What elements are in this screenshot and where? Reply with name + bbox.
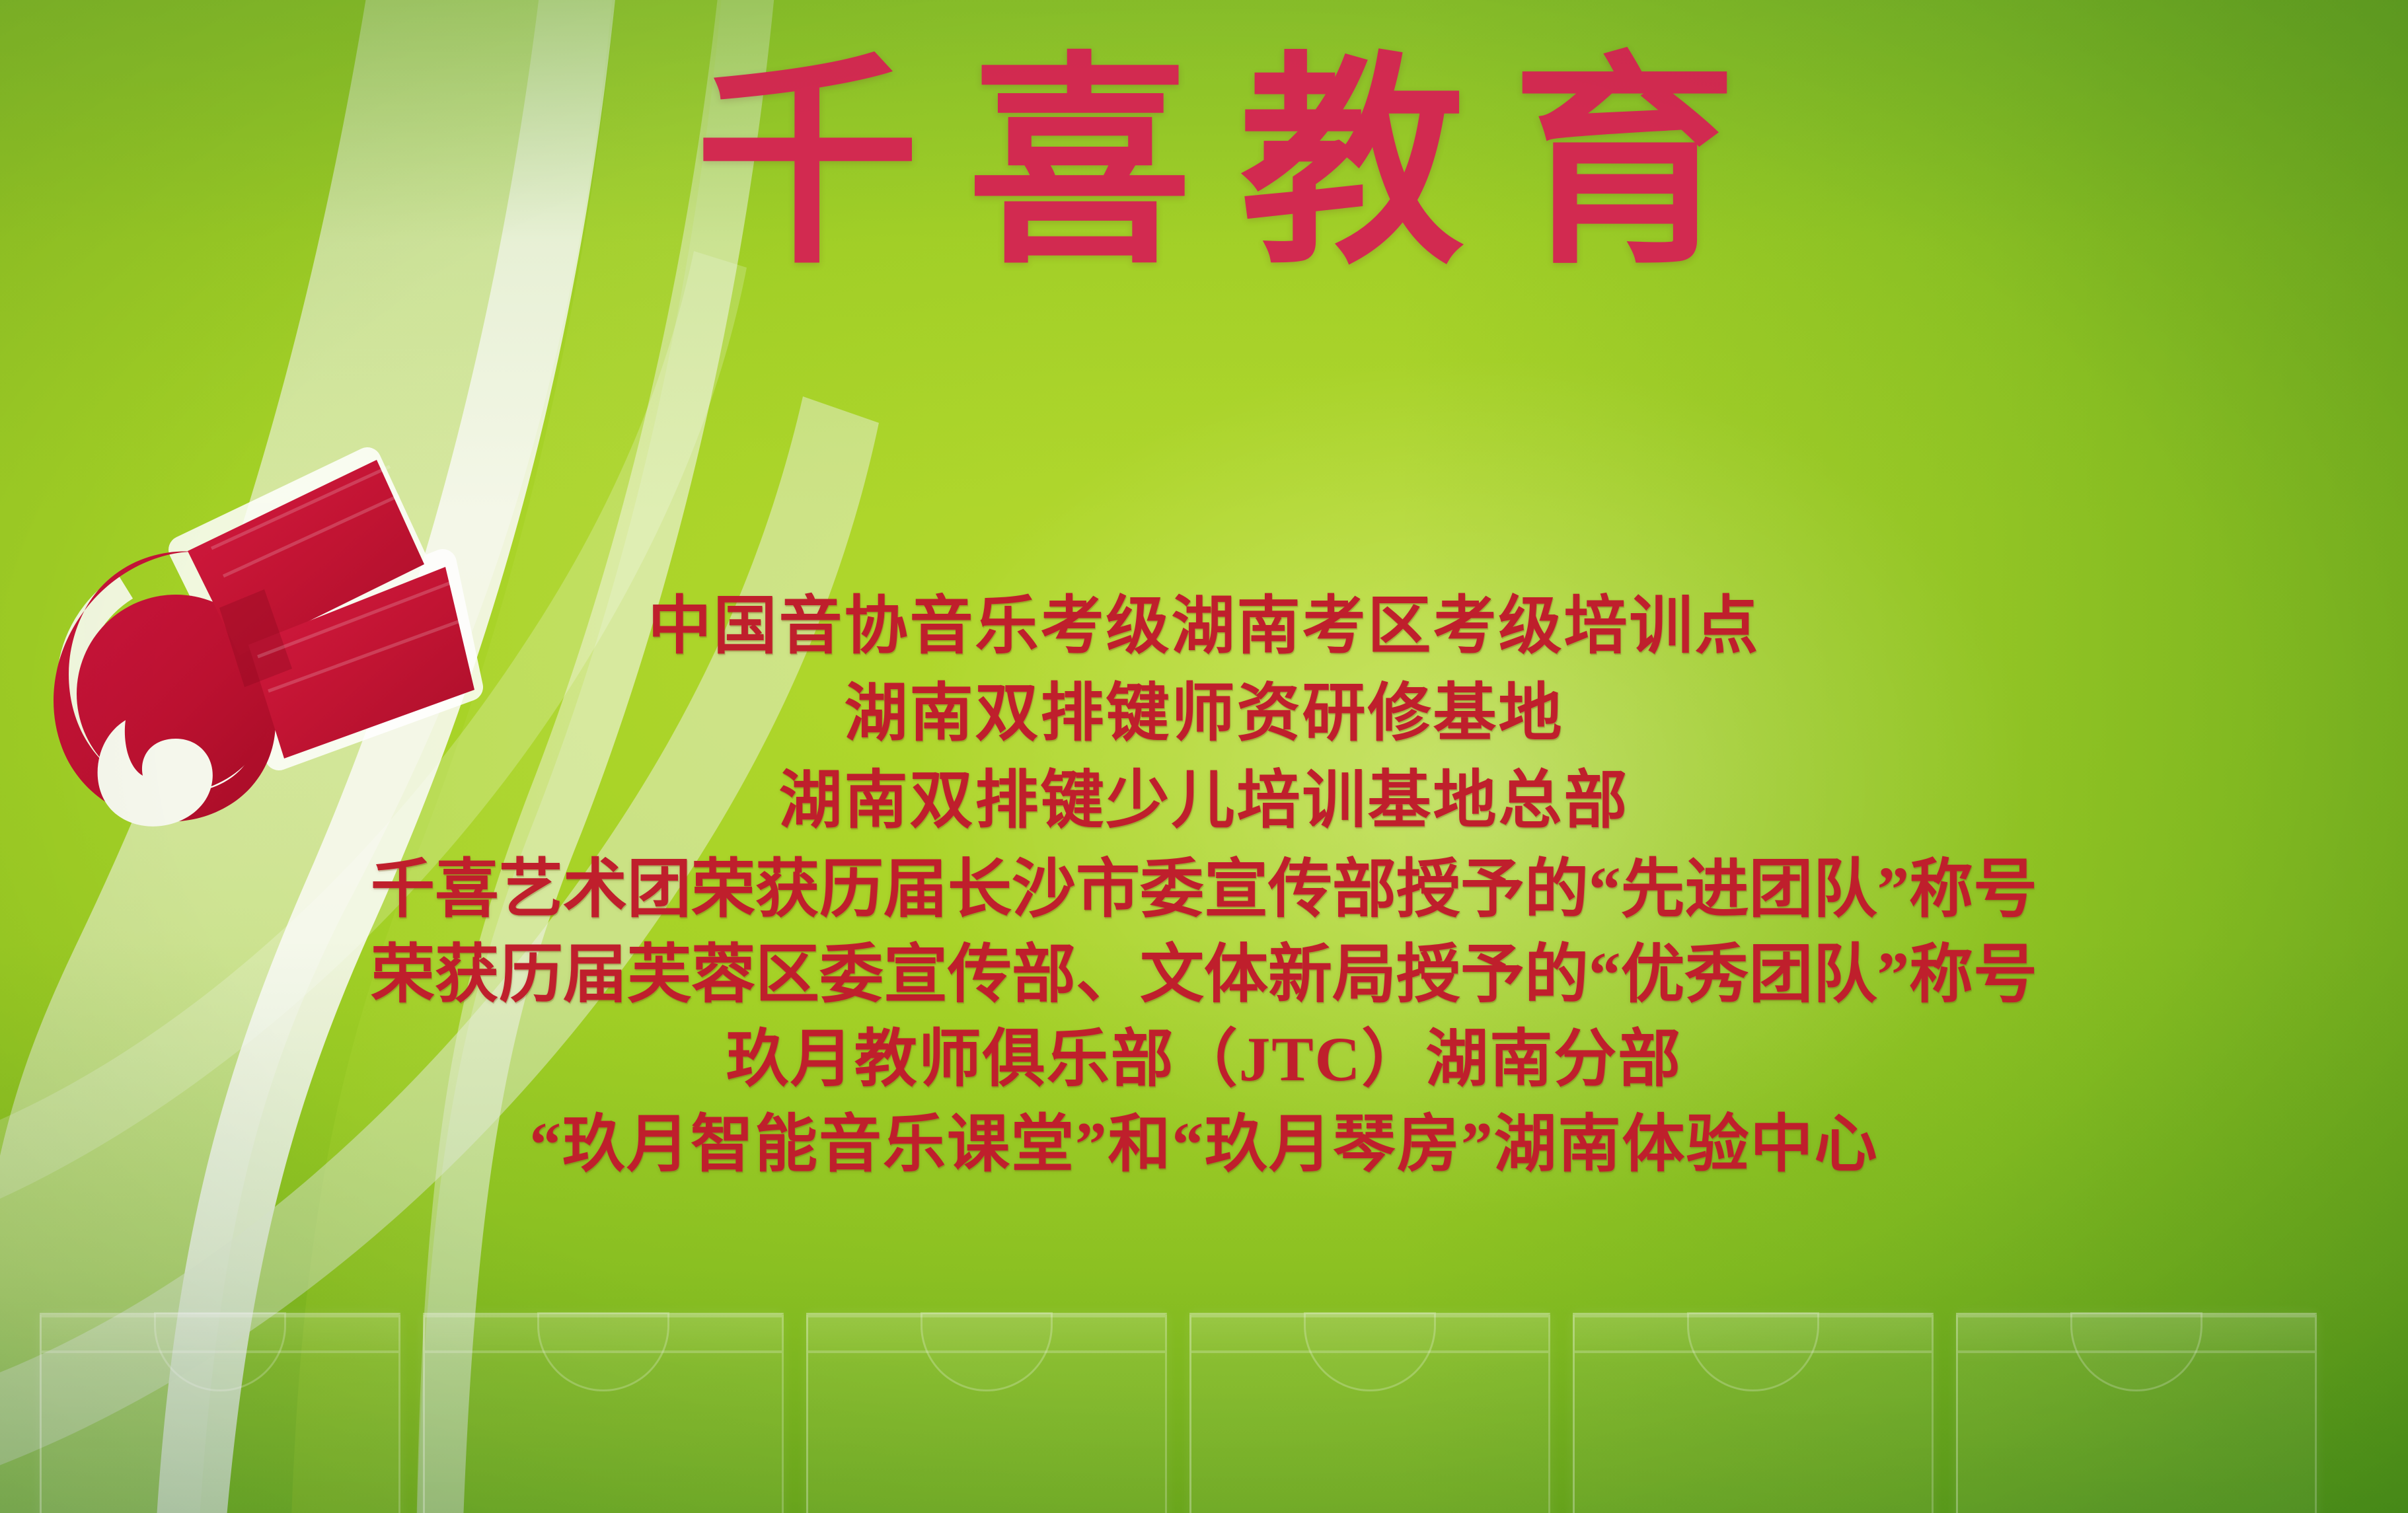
signboard: 千喜教育 中国音协音乐考级湖南考区考级培训点 湖南双排键师资研修基地 湖南双排键… xyxy=(0,0,2408,1513)
credential-line-4: 千喜艺术团荣获历届长沙市委宣传部授予的“先进团队”称号 xyxy=(0,858,2408,922)
credential-line-7: “玖月智能音乐课堂”和“玖月琴房”湖南体验中心 xyxy=(0,1113,2408,1176)
credential-line-6: 玖月教师俱乐部（JTC）湖南分部 xyxy=(0,1028,2408,1091)
credential-line-1: 中国音协音乐考级湖南考区考级培训点 xyxy=(0,595,2408,658)
credential-line-2: 湖南双排键师资研修基地 xyxy=(0,682,2408,745)
credential-line-3: 湖南双排键少儿培训基地总部 xyxy=(0,769,2408,832)
page-title: 千喜教育 xyxy=(370,52,2062,281)
credential-list: 中国音协音乐考级湖南考区考级培训点 湖南双排键师资研修基地 湖南双排键少儿培训基… xyxy=(0,595,2408,1176)
credential-line-5: 荣获历届芙蓉区委宣传部、文体新局授予的“优秀团队”称号 xyxy=(0,943,2408,1007)
